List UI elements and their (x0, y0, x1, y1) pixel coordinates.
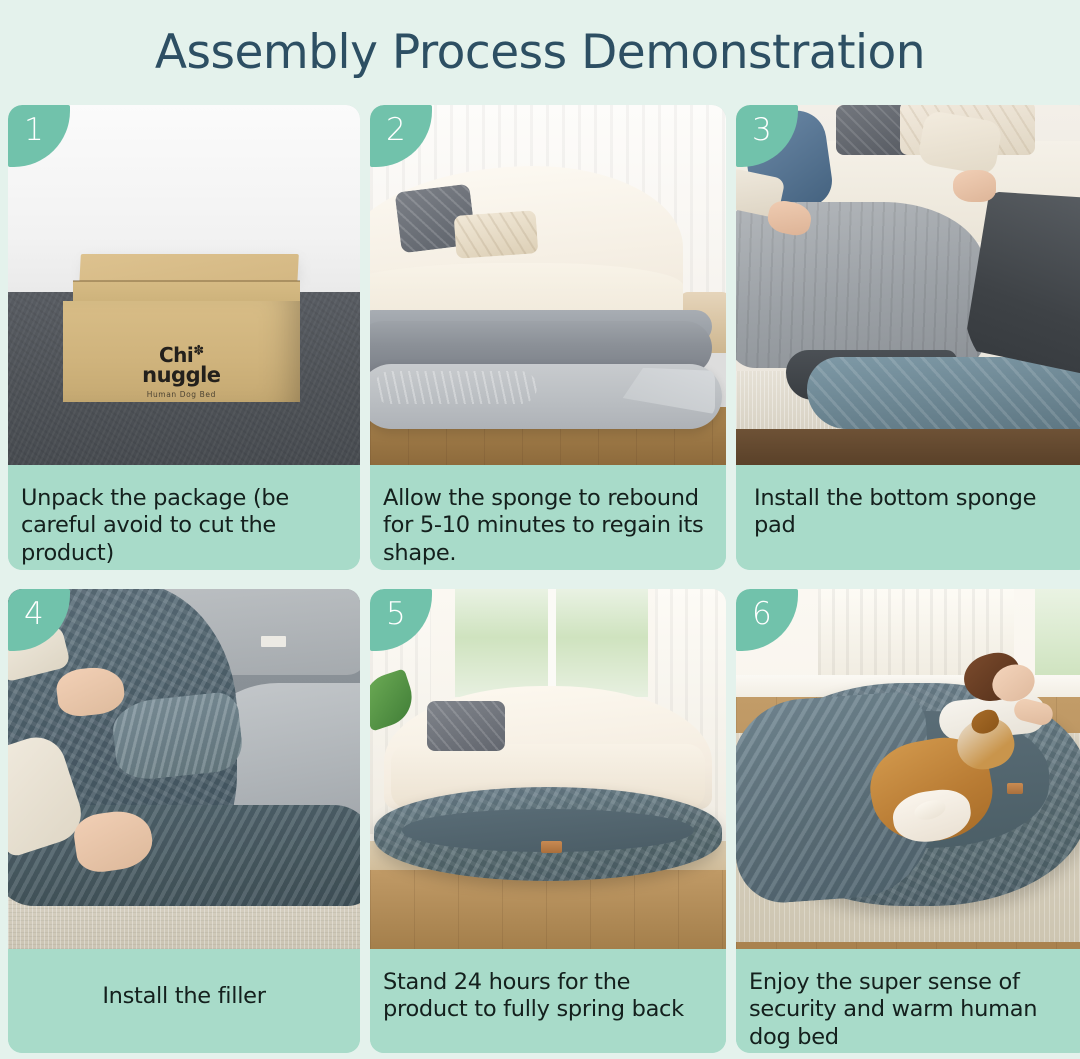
step-number-3: 3 (752, 115, 772, 146)
box-tape-seam (73, 280, 300, 282)
brand-leather-label (1007, 783, 1023, 794)
step-card-3: 3 Install the bottom sponge pad (736, 105, 1080, 570)
brand-mark-icon: ✽ (193, 343, 203, 358)
box-lid (73, 281, 300, 303)
step-card-1: Chi✽ nuggle Human Dog Bed 1 Unpack the p… (8, 105, 360, 570)
step-caption-5: Stand 24 hours for the product to fully … (370, 949, 726, 1053)
step-number-5: 5 (386, 599, 406, 630)
step-number-1: 1 (24, 115, 44, 146)
step-caption-4: Install the filler (8, 949, 360, 1053)
step-card-5: 5 Stand 24 hours for the product to full… (370, 589, 726, 1053)
right-hand (953, 170, 996, 202)
photo-4-scene (8, 589, 360, 949)
blue-bed-cover (807, 357, 1080, 429)
step-caption-2: Allow the sponge to rebound for 5-10 min… (370, 465, 726, 570)
wood-floor (736, 429, 1080, 465)
cream-knit-pillow (454, 210, 539, 259)
step-card-4: 4 Install the filler (8, 589, 360, 1053)
window (1035, 589, 1080, 683)
photo-1-scene: Chi✽ nuggle Human Dog Bed (8, 105, 360, 465)
brand-line-2: nuggle (63, 363, 301, 387)
step-number-6: 6 (752, 599, 772, 630)
step-photo-1: Chi✽ nuggle Human Dog Bed 1 (8, 105, 360, 465)
step-photo-5: 5 (370, 589, 726, 949)
photo-2-scene (370, 105, 726, 465)
step-caption-1: Unpack the package (be careful avoid to … (8, 465, 360, 570)
step-card-2: 2 Allow the sponge to rebound for 5-10 m… (370, 105, 726, 570)
step-photo-4: 4 (8, 589, 360, 949)
sponge-pad-ridges (374, 371, 538, 403)
page-header: Assembly Process Demonstration (0, 0, 1080, 105)
step-photo-3: 3 (736, 105, 1080, 465)
photo-5-scene (370, 589, 726, 949)
assembly-demonstration-page: Assembly Process Demonstration Chi✽ nugg… (0, 0, 1080, 1059)
step-number-2: 2 (386, 115, 406, 146)
page-title: Assembly Process Demonstration (155, 25, 925, 80)
photo-6-scene (736, 589, 1080, 949)
step-card-6: 6 Enjoy the super sense of security and … (736, 589, 1080, 1053)
step-caption-3: Install the bottom sponge pad (736, 465, 1080, 570)
care-tag (261, 636, 286, 647)
step-photo-6: 6 (736, 589, 1080, 949)
window-mullion (548, 589, 556, 697)
wood-floor (370, 870, 726, 949)
step-caption-6: Enjoy the super sense of security and wa… (736, 949, 1080, 1053)
photo-3-scene (736, 105, 1080, 465)
brand-subtitle: Human Dog Bed (63, 390, 301, 399)
step-number-4: 4 (24, 599, 44, 630)
brand-leather-label (541, 841, 562, 853)
box-brand-logo: Chi✽ nuggle Human Dog Bed (63, 343, 301, 399)
steps-grid: Chi✽ nuggle Human Dog Bed 1 Unpack the p… (0, 105, 1080, 1053)
grey-knit-pillow (427, 701, 505, 751)
step-photo-2: 2 (370, 105, 726, 465)
